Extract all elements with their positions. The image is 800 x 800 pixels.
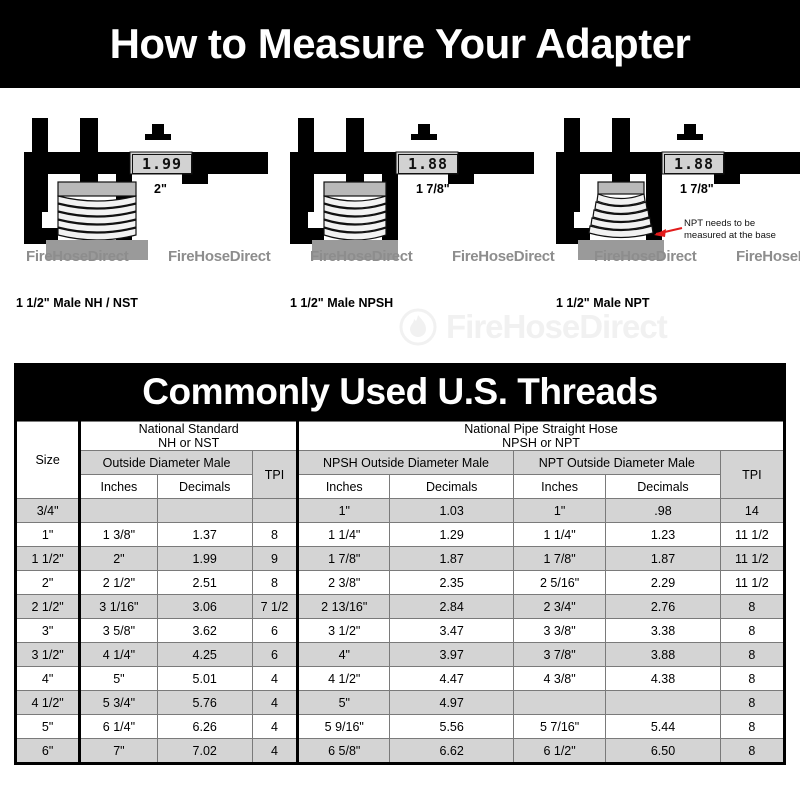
cell-npsh-inches: 2 13/16" <box>298 595 390 619</box>
cell-nh-inches: 5 3/4" <box>80 691 157 715</box>
thread-profile-straight-1 <box>58 182 136 240</box>
col-header-npsh-od: NPSH Outside Diameter Male <box>298 451 514 475</box>
cell-nh-decimals: 1.37 <box>157 523 252 547</box>
cell-nh-tpi: 4 <box>252 739 297 764</box>
cell-npt-inches: 2 5/16" <box>513 571 605 595</box>
col-group-npsh-line2: NPSH or NPT <box>299 436 783 450</box>
table-row: 1"1 3/8"1.3781 1/4"1.291 1/4"1.2311 1/2 <box>16 523 785 547</box>
col-group-nh-line1: National Standard <box>81 422 296 436</box>
cell-npsh-decimals: 4.47 <box>390 667 513 691</box>
cell-npt-inches: 3 3/8" <box>513 619 605 643</box>
cell-nh-tpi: 6 <box>252 643 297 667</box>
cell-nh-inches: 4 1/4" <box>80 643 157 667</box>
cell-npt-decimals: 3.38 <box>606 619 720 643</box>
cell-npsh-decimals: 2.84 <box>390 595 513 619</box>
section-title: Commonly Used U.S. Threads <box>142 371 657 413</box>
table-row: 6"7"7.0246 5/8"6.626 1/2"6.508 <box>16 739 785 764</box>
cell-nh-decimals <box>157 499 252 523</box>
cell-nh-inches: 3 5/8" <box>80 619 157 643</box>
caliper-illustration-1: 1.99 2" <box>2 116 268 276</box>
col-header-npsh-inches: Inches <box>298 475 390 499</box>
caliper-reading-3: 1.88 <box>664 154 724 174</box>
infographic-page: How to Measure Your Adapter <box>0 0 800 800</box>
cell-nh-tpi: 8 <box>252 571 297 595</box>
cell-npsh-decimals: 3.47 <box>390 619 513 643</box>
npt-note-line2: measured at the base <box>684 230 800 242</box>
cell-nh-decimals: 1.99 <box>157 547 252 571</box>
cell-size: 3/4" <box>16 499 80 523</box>
cell-npt-inches: 2 3/4" <box>513 595 605 619</box>
table-header-units: Inches Decimals Inches Decimals Inches D… <box>16 475 785 499</box>
cell-nh-inches: 1 3/8" <box>80 523 157 547</box>
cell-npt-tpi: 8 <box>720 691 784 715</box>
cell-nh-decimals: 3.06 <box>157 595 252 619</box>
cell-nh-tpi: 7 1/2 <box>252 595 297 619</box>
cell-nh-decimals: 4.25 <box>157 643 252 667</box>
npt-note: NPT needs to be measured at the base <box>684 218 800 241</box>
table-head: Size National Standard NH or NST Nationa… <box>16 422 785 499</box>
measurement-label-1: 2" <box>154 182 167 196</box>
cell-nh-decimals: 5.01 <box>157 667 252 691</box>
table-row: 4 1/2"5 3/4"5.7645"4.978 <box>16 691 785 715</box>
diagram-caption-1: 1 1/2" Male NH / NST <box>2 296 268 310</box>
cell-npt-inches: 1" <box>513 499 605 523</box>
cell-nh-inches: 5" <box>80 667 157 691</box>
cell-npt-decimals: 1.23 <box>606 523 720 547</box>
cell-size: 5" <box>16 715 80 739</box>
diagram-npt: 1.88 1 7/8" NPT needs to be measured at … <box>534 88 800 358</box>
cell-npsh-inches: 1 7/8" <box>298 547 390 571</box>
cell-nh-decimals: 6.26 <box>157 715 252 739</box>
cell-size: 3" <box>16 619 80 643</box>
cell-size: 2" <box>16 571 80 595</box>
cell-npt-tpi: 8 <box>720 643 784 667</box>
page-title: How to Measure Your Adapter <box>110 20 691 68</box>
cell-npsh-inches: 1" <box>298 499 390 523</box>
cell-npt-tpi: 14 <box>720 499 784 523</box>
caliper-svg-1 <box>2 116 268 276</box>
table-row: 2 1/2"3 1/16"3.067 1/22 13/16"2.842 3/4"… <box>16 595 785 619</box>
cell-npsh-inches: 4" <box>298 643 390 667</box>
cell-nh-tpi: 4 <box>252 691 297 715</box>
cell-npt-decimals: 1.87 <box>606 547 720 571</box>
cell-npt-tpi: 8 <box>720 715 784 739</box>
col-header-npsh-decimals: Decimals <box>390 475 513 499</box>
diagram-caption-3: 1 1/2" Male NPT <box>534 296 800 310</box>
table-row: 3"3 5/8"3.6263 1/2"3.473 3/8"3.388 <box>16 619 785 643</box>
cell-nh-decimals: 2.51 <box>157 571 252 595</box>
table-row: 5"6 1/4"6.2645 9/16"5.565 7/16"5.448 <box>16 715 785 739</box>
cell-npt-decimals: 3.88 <box>606 643 720 667</box>
col-header-npt-od: NPT Outside Diameter Male <box>513 451 720 475</box>
caliper-diagrams: 1.99 2" 1 1/2" Male NH / NST <box>0 88 800 358</box>
cell-npt-tpi: 8 <box>720 739 784 764</box>
cell-npt-decimals: 5.44 <box>606 715 720 739</box>
cell-size: 4 1/2" <box>16 691 80 715</box>
cell-nh-tpi: 8 <box>252 523 297 547</box>
cell-npsh-decimals: 1.29 <box>390 523 513 547</box>
caliper-svg-3 <box>534 116 800 276</box>
col-header-npt-tpi: TPI <box>720 451 784 499</box>
cell-npsh-decimals: 6.62 <box>390 739 513 764</box>
cell-nh-inches: 7" <box>80 739 157 764</box>
cell-npt-tpi: 11 1/2 <box>720 523 784 547</box>
cell-npsh-decimals: 4.97 <box>390 691 513 715</box>
cell-nh-tpi: 4 <box>252 715 297 739</box>
cell-npsh-inches: 3 1/2" <box>298 619 390 643</box>
cell-nh-inches: 2 1/2" <box>80 571 157 595</box>
thread-profile-straight-2 <box>324 182 386 240</box>
threads-table: Size National Standard NH or NST Nationa… <box>14 421 786 765</box>
cell-npt-inches: 4 3/8" <box>513 667 605 691</box>
cell-npt-decimals <box>606 691 720 715</box>
table-header-subgroups: Outside Diameter Male TPI NPSH Outside D… <box>16 451 785 475</box>
cell-size: 1 1/2" <box>16 547 80 571</box>
cell-npt-tpi: 8 <box>720 595 784 619</box>
cell-npsh-decimals: 1.03 <box>390 499 513 523</box>
cell-npt-decimals: 2.76 <box>606 595 720 619</box>
table-body: 3/4"1"1.031".98141"1 3/8"1.3781 1/4"1.29… <box>16 499 785 764</box>
cell-npsh-decimals: 1.87 <box>390 547 513 571</box>
measurement-label-2: 1 7/8" <box>416 182 450 196</box>
cell-npsh-inches: 4 1/2" <box>298 667 390 691</box>
caliper-illustration-3: 1.88 1 7/8" NPT needs to be measured at … <box>534 116 800 276</box>
cell-npsh-decimals: 2.35 <box>390 571 513 595</box>
table-row: 4"5"5.0144 1/2"4.474 3/8"4.388 <box>16 667 785 691</box>
cell-npt-inches: 6 1/2" <box>513 739 605 764</box>
table-row: 1 1/2"2"1.9991 7/8"1.871 7/8"1.8711 1/2 <box>16 547 785 571</box>
cell-npt-decimals: 6.50 <box>606 739 720 764</box>
col-header-nh-od: Outside Diameter Male <box>80 451 253 475</box>
col-group-nh-line2: NH or NST <box>81 436 296 450</box>
cell-nh-decimals: 3.62 <box>157 619 252 643</box>
cell-npsh-decimals: 5.56 <box>390 715 513 739</box>
cell-npsh-inches: 6 5/8" <box>298 739 390 764</box>
cell-npt-inches: 5 7/16" <box>513 715 605 739</box>
cell-size: 4" <box>16 667 80 691</box>
cell-npt-tpi: 8 <box>720 619 784 643</box>
table-row: 3/4"1"1.031".9814 <box>16 499 785 523</box>
cell-npt-inches: 3 7/8" <box>513 643 605 667</box>
cell-npt-tpi: 11 1/2 <box>720 547 784 571</box>
col-header-size: Size <box>16 422 80 499</box>
caliper-reading-1: 1.99 <box>132 154 192 174</box>
cell-npt-decimals: 4.38 <box>606 667 720 691</box>
top-banner: How to Measure Your Adapter <box>0 0 800 88</box>
measurement-label-3: 1 7/8" <box>680 182 714 196</box>
table-header-groups: Size National Standard NH or NST Nationa… <box>16 422 785 451</box>
table-row: 2"2 1/2"2.5182 3/8"2.352 5/16"2.2911 1/2 <box>16 571 785 595</box>
col-group-npsh: National Pipe Straight Hose NPSH or NPT <box>298 422 785 451</box>
col-header-npt-decimals: Decimals <box>606 475 720 499</box>
cell-nh-inches: 6 1/4" <box>80 715 157 739</box>
col-header-npt-inches: Inches <box>513 475 605 499</box>
cell-npsh-inches: 2 3/8" <box>298 571 390 595</box>
cell-npt-tpi: 11 1/2 <box>720 571 784 595</box>
cell-nh-tpi: 6 <box>252 619 297 643</box>
cell-size: 1" <box>16 523 80 547</box>
cell-npt-inches <box>513 691 605 715</box>
cell-nh-tpi: 9 <box>252 547 297 571</box>
col-header-nh-inches: Inches <box>80 475 157 499</box>
cell-npt-decimals: 2.29 <box>606 571 720 595</box>
cell-npt-tpi: 8 <box>720 667 784 691</box>
cell-npsh-decimals: 3.97 <box>390 643 513 667</box>
cell-size: 2 1/2" <box>16 595 80 619</box>
section-banner: Commonly Used U.S. Threads <box>14 363 786 421</box>
caliper-illustration-2: 1.88 1 7/8" <box>268 116 534 276</box>
col-group-nh: National Standard NH or NST <box>80 422 298 451</box>
cell-size: 6" <box>16 739 80 764</box>
table-row: 3 1/2"4 1/4"4.2564"3.973 7/8"3.888 <box>16 643 785 667</box>
cell-npsh-inches: 5 9/16" <box>298 715 390 739</box>
cell-nh-inches: 3 1/16" <box>80 595 157 619</box>
cell-nh-decimals: 7.02 <box>157 739 252 764</box>
col-header-nh-decimals: Decimals <box>157 475 252 499</box>
cell-npsh-inches: 1 1/4" <box>298 523 390 547</box>
thread-profile-tapered <box>589 182 653 238</box>
npt-note-line1: NPT needs to be <box>684 218 800 230</box>
cell-nh-tpi: 4 <box>252 667 297 691</box>
cell-npt-decimals: .98 <box>606 499 720 523</box>
cell-nh-tpi <box>252 499 297 523</box>
diagram-npsh: 1.88 1 7/8" 1 1/2" Male NPSH <box>268 88 534 358</box>
cell-npt-inches: 1 1/4" <box>513 523 605 547</box>
cell-nh-decimals: 5.76 <box>157 691 252 715</box>
cell-nh-inches: 2" <box>80 547 157 571</box>
diagram-caption-2: 1 1/2" Male NPSH <box>268 296 534 310</box>
cell-size: 3 1/2" <box>16 643 80 667</box>
col-group-npsh-line1: National Pipe Straight Hose <box>299 422 783 436</box>
cell-npsh-inches: 5" <box>298 691 390 715</box>
caliper-reading-2: 1.88 <box>398 154 458 174</box>
diagram-nh-nst: 1.99 2" 1 1/2" Male NH / NST <box>2 88 268 358</box>
cell-npt-inches: 1 7/8" <box>513 547 605 571</box>
cell-nh-inches <box>80 499 157 523</box>
caliper-svg-2 <box>268 116 534 276</box>
col-header-nh-tpi: TPI <box>252 451 297 499</box>
threads-table-section: Commonly Used U.S. Threads Size National… <box>14 363 786 765</box>
